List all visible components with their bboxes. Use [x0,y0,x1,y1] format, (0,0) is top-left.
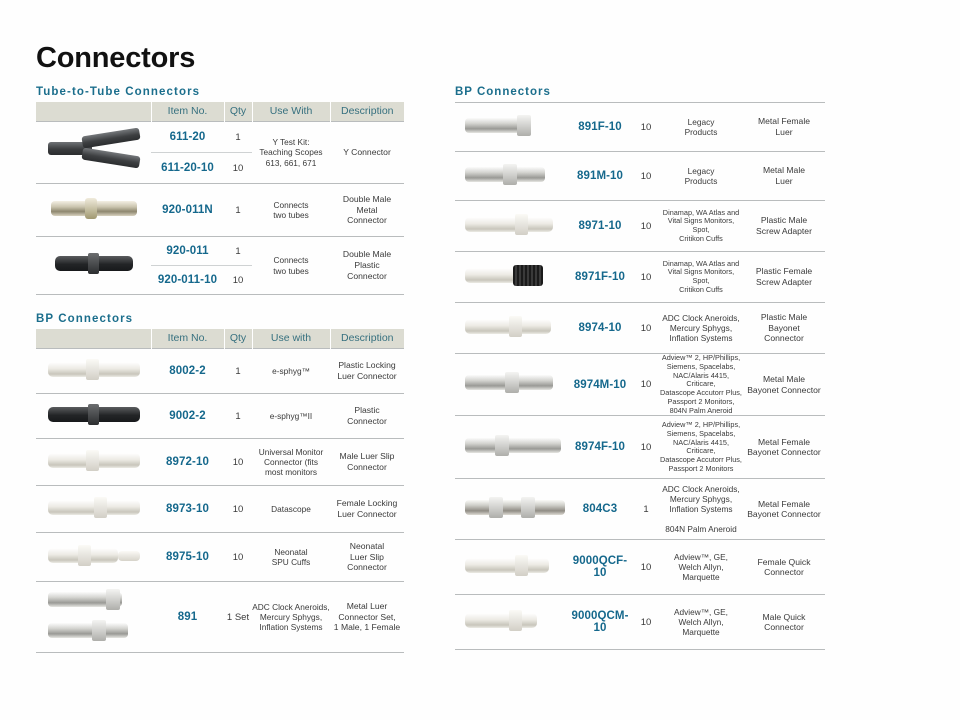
bp-connectors-table-left: Item No. Qty Use with Description 8002-2… [36,329,404,653]
item-no-cell: 920-011N [151,184,224,237]
description-cell: Metal Female Luer [743,103,825,152]
catalog-page: Connectors Tube-to-Tube Connectors Item … [0,0,960,720]
description-cell: Male Quick Connector [743,595,825,650]
description-cell: Plastic Male Bayonet Connector [743,303,825,354]
plastic-connector-black-photo [48,404,140,424]
table-row: 9000QCF-10 10 Adview™, GE, Welch Allyn, … [455,540,825,595]
description-cell: Metal Luer Connector Set, 1 Male, 1 Fema… [330,582,404,653]
item-no-cell: 8002-2 [151,349,224,394]
female-quick-connector-photo [465,554,557,576]
item-no-cell: 9000QCM-10 [567,595,633,650]
qty-cell: 10 [224,439,252,486]
product-image-891M-10 [455,152,567,201]
item-no-cell: 8973-10 [151,486,224,533]
table-row: 8002-2 1 e-sphyg™ Plastic Locking Luer C… [36,349,404,394]
item-no-cell: 8971F-10 [567,252,633,303]
metal-luer-connector-set-photo [36,586,151,648]
left-column: Tube-to-Tube Connectors Item No. Qty Use… [36,86,404,653]
metal-female-luer-photo [465,114,557,136]
table-row: 8971F-10 10 Dinamap, WA Atlas and Vital … [455,252,825,303]
description-cell: Neonatal Luer Slip Connector [330,533,404,582]
item-no-cell: 8974-10 [567,303,633,354]
description-cell: Plastic Connector [330,394,404,439]
qty-cell: 1 Set [224,582,252,653]
column-header-qty: Qty [224,102,252,122]
product-image-8971F-10 [455,252,567,303]
table-row: 8971-10 10 Dinamap, WA Atlas and Vital S… [455,201,825,252]
table-row: 611-20 1 Y Test Kit: Teaching Scopes 613… [36,122,404,153]
metal-female-bayonet-connector-804c3-photo [465,496,557,518]
product-image-y-connector [36,122,151,184]
description-cell: Male Luer Slip Connector [330,439,404,486]
use-with-cell: Connects two tubes [252,184,330,237]
product-image-804C3 [455,479,567,540]
use-with-cell: ADC Clock Aneroids, Mercury Sphygs, Infl… [659,303,743,354]
qty-cell: 10 [224,266,252,295]
metal-luer-male-photo [48,619,140,641]
male-quick-connector-photo [465,609,557,631]
use-with-cell: Legacy Products [659,152,743,201]
table-row: 920-011N 1 Connects two tubes Double Mal… [36,184,404,237]
qty-cell: 1 [224,184,252,237]
description-cell: Metal Female Bayonet Connector [743,479,825,540]
qty-cell: 10 [633,103,659,152]
column-header-use-with: Use With [252,102,330,122]
item-no-cell: 9002-2 [151,394,224,439]
qty-cell: 1 [224,349,252,394]
qty-cell: 10 [633,303,659,354]
item-no-cell: 8972-10 [151,439,224,486]
table-bottom-rule [36,653,404,654]
use-with-cell: ADC Clock Aneroids, Mercury Sphygs, Infl… [659,479,743,540]
item-no-cell: 8975-10 [151,533,224,582]
section-heading-bp-connectors-right: BP Connectors [455,86,825,98]
qty-cell: 10 [633,595,659,650]
qty-cell: 1 [633,479,659,540]
description-cell: Plastic Locking Luer Connector [330,349,404,394]
table-row: 8974-10 10 ADC Clock Aneroids, Mercury S… [455,303,825,354]
item-no-cell: 8971-10 [567,201,633,252]
metal-male-bayonet-connector-photo [465,371,557,393]
table-header-row: Item No. Qty Use With Description [36,102,404,122]
use-with-cell: Legacy Products [659,103,743,152]
item-no-cell: 891M-10 [567,152,633,201]
use-with-cell: Datascope [252,486,330,533]
item-no-cell: 8974F-10 [567,416,633,479]
column-header-qty: Qty [224,329,252,349]
item-no-cell: 611-20 [151,122,224,153]
use-with-cell: Adview™ 2, HP/Phillips, Siemens, Spacela… [659,354,743,416]
description-cell: Metal Male Luer [743,152,825,201]
use-with-cell: ADC Clock Aneroids, Mercury Sphygs, Infl… [252,582,330,653]
right-column: BP Connectors 891F-10 10 Legacy Products… [455,86,825,650]
plastic-male-screw-adapter-photo [465,213,557,235]
item-no-cell: 804C3 [567,479,633,540]
description-cell: Female Quick Connector [743,540,825,595]
description-cell: Double Male Plastic Connector [330,237,404,295]
table-row: 8972-10 10 Universal Monitor Connector (… [36,439,404,486]
product-image-9000QCF-10 [455,540,567,595]
qty-cell: 10 [633,201,659,252]
item-no-cell: 920-011-10 [151,266,224,295]
use-with-cell: e-sphyg™II [252,394,330,439]
double-male-metal-connector-photo [51,198,137,218]
metal-male-luer-photo [465,163,557,185]
use-with-cell: Adview™, GE, Welch Allyn, Marquette [659,595,743,650]
metal-female-bayonet-connector-photo [465,434,557,456]
description-cell: Metal Female Bayonet Connector [743,416,825,479]
use-with-cell: Adview™, GE, Welch Allyn, Marquette [659,540,743,595]
description-cell: Y Connector [330,122,404,184]
table-row: 891F-10 10 Legacy Products Metal Female … [455,103,825,152]
qty-cell: 10 [224,533,252,582]
qty-cell: 1 [224,122,252,153]
section-heading-bp-connectors-left: BP Connectors [36,313,404,325]
description-cell: Double Male Metal Connector [330,184,404,237]
male-luer-slip-connector-photo [48,449,140,471]
column-header-image [36,102,151,122]
table-row: 8974M-10 10 Adview™ 2, HP/Phillips, Siem… [455,354,825,416]
use-with-cell: Dinamap, WA Atlas and Vital Signs Monito… [659,201,743,252]
table-bottom-rule [36,295,404,296]
column-header-description: Description [330,102,404,122]
use-with-cell: Dinamap, WA Atlas and Vital Signs Monito… [659,252,743,303]
use-with-cell: e-sphyg™ [252,349,330,394]
table-row: 920-011 1 Connects two tubes Double Male… [36,237,404,266]
metal-luer-female-photo [48,588,140,610]
product-image-8972-10 [36,439,151,486]
column-header-description: Description [330,329,404,349]
product-image-9002-2 [36,394,151,439]
bp-connectors-table-right: 891F-10 10 Legacy Products Metal Female … [455,102,825,650]
use-with-cell: Neonatal SPU Cuffs [252,533,330,582]
table-row: 8975-10 10 Neonatal SPU Cuffs Neonatal L… [36,533,404,582]
plastic-male-bayonet-connector-photo [465,315,557,337]
description-cell: Plastic Male Screw Adapter [743,201,825,252]
column-header-use-with: Use with [252,329,330,349]
tube-to-tube-connectors-table: Item No. Qty Use With Description 611-20… [36,102,404,295]
table-row: 8974F-10 10 Adview™ 2, HP/Phillips, Siem… [455,416,825,479]
product-image-8973-10 [36,486,151,533]
product-image-891F-10 [455,103,567,152]
product-image-double-male-metal [36,184,151,237]
qty-cell: 10 [633,416,659,479]
qty-cell: 10 [633,152,659,201]
y-connector-photo [42,128,146,172]
table-row: 891M-10 10 Legacy Products Metal Male Lu… [455,152,825,201]
product-image-8971-10 [455,201,567,252]
table-row: 891 1 Set ADC Clock Aneroids, Mercury Sp… [36,582,404,653]
description-cell: Female Locking Luer Connector [330,486,404,533]
female-locking-luer-connector-photo [48,496,140,518]
qty-cell: 10 [633,252,659,303]
plastic-locking-luer-connector-photo [48,358,140,380]
qty-cell: 1 [224,237,252,266]
item-no-cell: 8974M-10 [567,354,633,416]
qty-cell: 10 [224,486,252,533]
item-no-cell: 9000QCF-10 [567,540,633,595]
plastic-female-screw-adapter-photo [465,264,557,286]
product-image-8974F-10 [455,416,567,479]
use-with-cell: Universal Monitor Connector (fits most m… [252,439,330,486]
item-no-cell: 920-011 [151,237,224,266]
use-with-cell: Adview™ 2, HP/Phillips, Siemens, Spacela… [659,416,743,479]
item-no-cell: 891F-10 [567,103,633,152]
qty-cell: 10 [224,153,252,184]
product-image-8002-2 [36,349,151,394]
qty-cell: 1 [224,394,252,439]
column-header-item-no: Item No. [151,102,224,122]
double-male-plastic-connector-photo [55,253,133,273]
neonatal-luer-slip-connector-photo [48,544,140,566]
table-row: 804C3 1 ADC Clock Aneroids, Mercury Sphy… [455,479,825,540]
table-row: 9000QCM-10 10 Adview™, GE, Welch Allyn, … [455,595,825,650]
page-title: Connectors [36,44,195,73]
use-with-cell: Connects two tubes [252,237,330,295]
table-row: 9002-2 1 e-sphyg™II Plastic Connector [36,394,404,439]
use-with-cell: Y Test Kit: Teaching Scopes 613, 661, 67… [252,122,330,184]
column-header-image [36,329,151,349]
column-header-item-no: Item No. [151,329,224,349]
qty-cell: 10 [633,540,659,595]
item-no-cell: 891 [151,582,224,653]
table-bottom-rule [455,650,825,651]
item-no-cell: 611-20-10 [151,153,224,184]
description-cell: Plastic Female Screw Adapter [743,252,825,303]
section-heading-tube-to-tube: Tube-to-Tube Connectors [36,86,404,98]
description-cell: Metal Male Bayonet Connector [743,354,825,416]
product-image-8974-10 [455,303,567,354]
table-header-row: Item No. Qty Use with Description [36,329,404,349]
product-image-8975-10 [36,533,151,582]
product-image-891 [36,582,151,653]
qty-cell: 10 [633,354,659,416]
product-image-8974M-10 [455,354,567,416]
table-row: 8973-10 10 Datascope Female Locking Luer… [36,486,404,533]
product-image-9000QCM-10 [455,595,567,650]
product-image-double-male-plastic [36,237,151,295]
